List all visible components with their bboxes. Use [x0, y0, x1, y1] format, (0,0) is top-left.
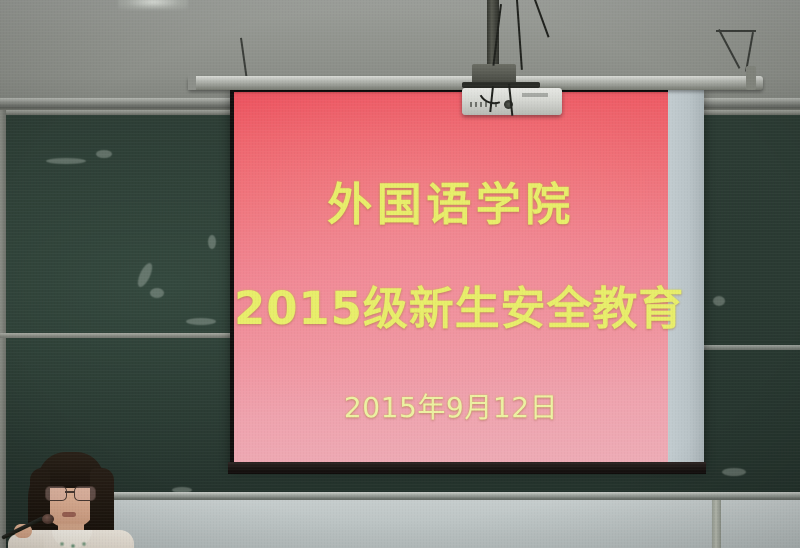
slide-title-line1: 外国语学院: [234, 168, 668, 233]
slide-title-line2: 2015级新生安全教育: [234, 272, 668, 337]
chalk-mark: [208, 235, 216, 249]
chalk-mark: [150, 288, 164, 298]
chalk-mark: [713, 296, 725, 306]
microphone-head: [42, 514, 54, 524]
glasses-lens-right: [74, 486, 96, 501]
glasses-bridge: [65, 491, 74, 493]
screen-bracket-left: [188, 70, 196, 90]
ceiling-light-glow: [118, 0, 188, 10]
screen-right-border: [668, 88, 704, 468]
screen-bottom-weight-bar: [228, 462, 706, 474]
screen-hanger-bar: [716, 30, 756, 32]
chalkboard-left-frame: [0, 110, 6, 548]
glasses-lens-left: [45, 486, 67, 501]
screen-bracket-right: [746, 66, 756, 90]
projector-label: [522, 93, 548, 97]
rail-support-leg: [712, 500, 721, 548]
slide-date-line: 2015年9月12日: [234, 386, 668, 426]
speaker-glasses: [44, 486, 96, 499]
classroom-scene: 外国语学院 2015级新生安全教育 2015年9月12日: [0, 0, 800, 548]
chalk-mark: [186, 318, 216, 325]
chalk-mark: [722, 468, 746, 476]
speaker-mouth: [62, 512, 76, 517]
chalkboard-divider-right: [700, 345, 800, 350]
speaker-blouse-pattern: [56, 538, 90, 548]
chalk-mark: [46, 158, 86, 164]
chalk-mark: [96, 150, 112, 158]
lower-wall-panel: [96, 500, 800, 548]
chalkboard-divider-left: [0, 333, 232, 338]
